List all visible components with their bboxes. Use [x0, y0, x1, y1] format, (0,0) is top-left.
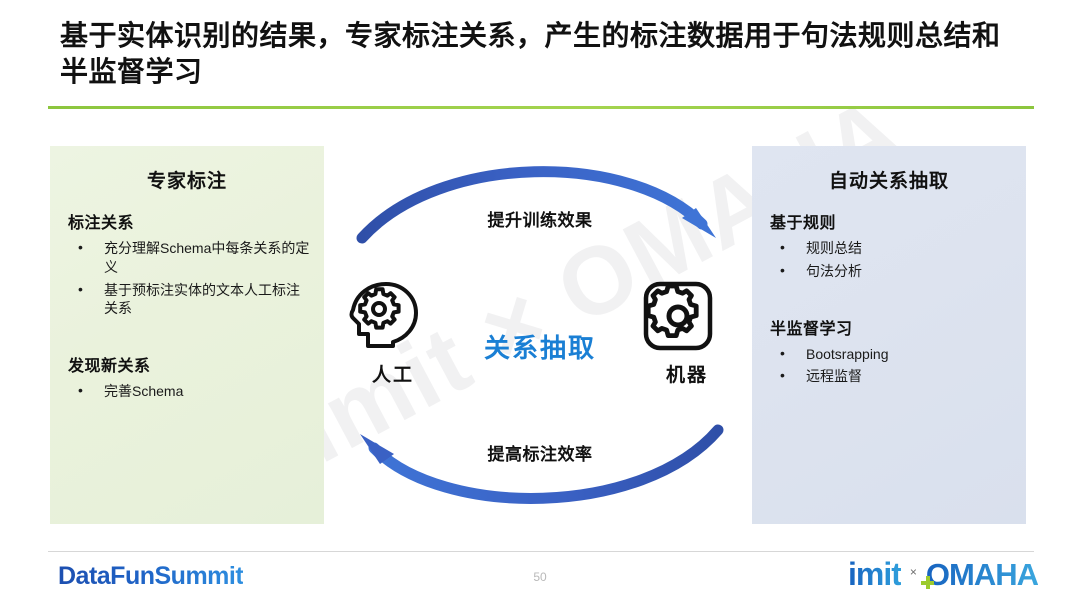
bottom-arrow-label: 提高标注效率 — [410, 440, 670, 465]
list-item: Bootsrapping — [776, 345, 1012, 364]
right-panel-title: 自动关系抽取 — [752, 166, 1026, 193]
list-item: 句法分析 — [776, 262, 1012, 281]
left-section-bullets-2: 完善Schema — [50, 382, 324, 401]
list-item: 规则总结 — [776, 239, 1012, 258]
omaha-logo: OMAHA — [926, 559, 1038, 590]
list-item: 完善Schema — [74, 382, 310, 401]
left-section-heading-1: 标注关系 — [68, 209, 324, 233]
right-section-bullets-2: Bootsrapping 远程监督 — [752, 345, 1026, 387]
machine-node: 机器 — [642, 280, 732, 387]
relation-extraction-cycle: 提升训练效果 提高标注效率 关系抽取 人工 机 — [330, 146, 750, 524]
gear-box-icon — [642, 280, 732, 358]
right-section-heading-1: 基于规则 — [770, 209, 1026, 233]
list-item: 充分理解Schema中每条关系的定义 — [74, 239, 310, 277]
omaha-logo-text: OMAHA — [926, 557, 1038, 592]
right-section-heading-2: 半监督学习 — [770, 315, 1026, 339]
head-gear-icon — [348, 280, 438, 358]
left-section-bullets-1: 充分理解Schema中每条关系的定义 基于预标注实体的文本人工标注关系 — [50, 239, 324, 318]
left-panel-title: 专家标注 — [50, 166, 324, 193]
auto-extraction-panel: 自动关系抽取 基于规则 规则总结 句法分析 半监督学习 Bootsrapping… — [752, 146, 1026, 524]
slide-root: imit × OMAHA 基于实体识别的结果，专家标注关系，产生的标注数据用于句… — [0, 0, 1080, 608]
imit-logo: imit — [848, 558, 901, 590]
logo-separator: × — [910, 566, 917, 582]
expert-annotation-panel: 专家标注 标注关系 充分理解Schema中每条关系的定义 基于预标注实体的文本人… — [50, 146, 324, 524]
page-title: 基于实体识别的结果，专家标注关系，产生的标注数据用于句法规则总结和半监督学习 — [60, 18, 1020, 91]
footer-divider — [48, 551, 1034, 552]
plus-icon — [921, 576, 934, 589]
sponsor-logos: imit × OMAHA — [848, 558, 1038, 590]
machine-node-label: 机器 — [642, 360, 732, 387]
left-section-heading-2: 发现新关系 — [68, 352, 324, 376]
cycle-center-label: 关系抽取 — [415, 328, 665, 365]
human-node-label: 人工 — [348, 360, 438, 387]
top-arrow-label: 提升训练效果 — [410, 206, 670, 231]
title-divider — [48, 106, 1034, 109]
list-item: 远程监督 — [776, 367, 1012, 386]
list-item: 基于预标注实体的文本人工标注关系 — [74, 281, 310, 319]
right-section-bullets-1: 规则总结 句法分析 — [752, 239, 1026, 281]
human-node: 人工 — [348, 280, 438, 387]
